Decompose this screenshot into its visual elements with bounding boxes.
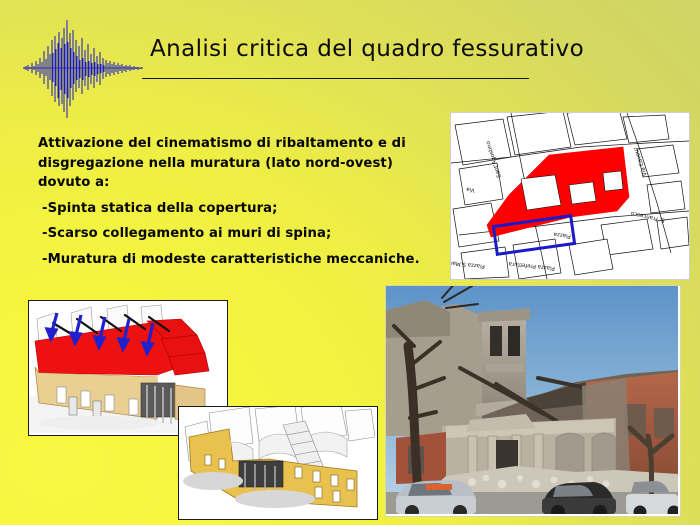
body-text-block: Attivazione del cinematismo di ribaltame… [38,134,430,275]
bullet-item-3: -Muratura di modeste caratteristiche mec… [42,250,430,270]
body-paragraph: Attivazione del cinematismo di ribaltame… [38,134,430,193]
photo-description: Photograph of the collapsed church facad… [386,514,387,515]
title-underline-rule [142,78,529,79]
bullet-item-2: -Scarso collegamento ai muri di spina; [42,224,430,244]
cadastral-map: Piazza S.Marco Piazza Prefettura Via Cav… [450,112,690,280]
map-description: Cadastral plan with building footprint h… [451,279,452,280]
earthquake-damage-photo: Photograph of the collapsed church facad… [385,285,681,517]
drawing1-description: 3D axonometric view of the building with… [29,433,30,434]
axonometric-cutaway-drawing: 3D cutaway axonometric view showing ochr… [178,406,378,520]
slide: Analisi critica del quadro fessurativo A… [0,0,700,525]
seismogram-waveform-icon [22,18,152,118]
bullet-item-1: -Spinta statica della copertura; [42,199,430,219]
drawing2-description: 3D cutaway axonometric view showing ochr… [179,517,180,518]
page-title: Analisi critica del quadro fessurativo [150,34,570,64]
